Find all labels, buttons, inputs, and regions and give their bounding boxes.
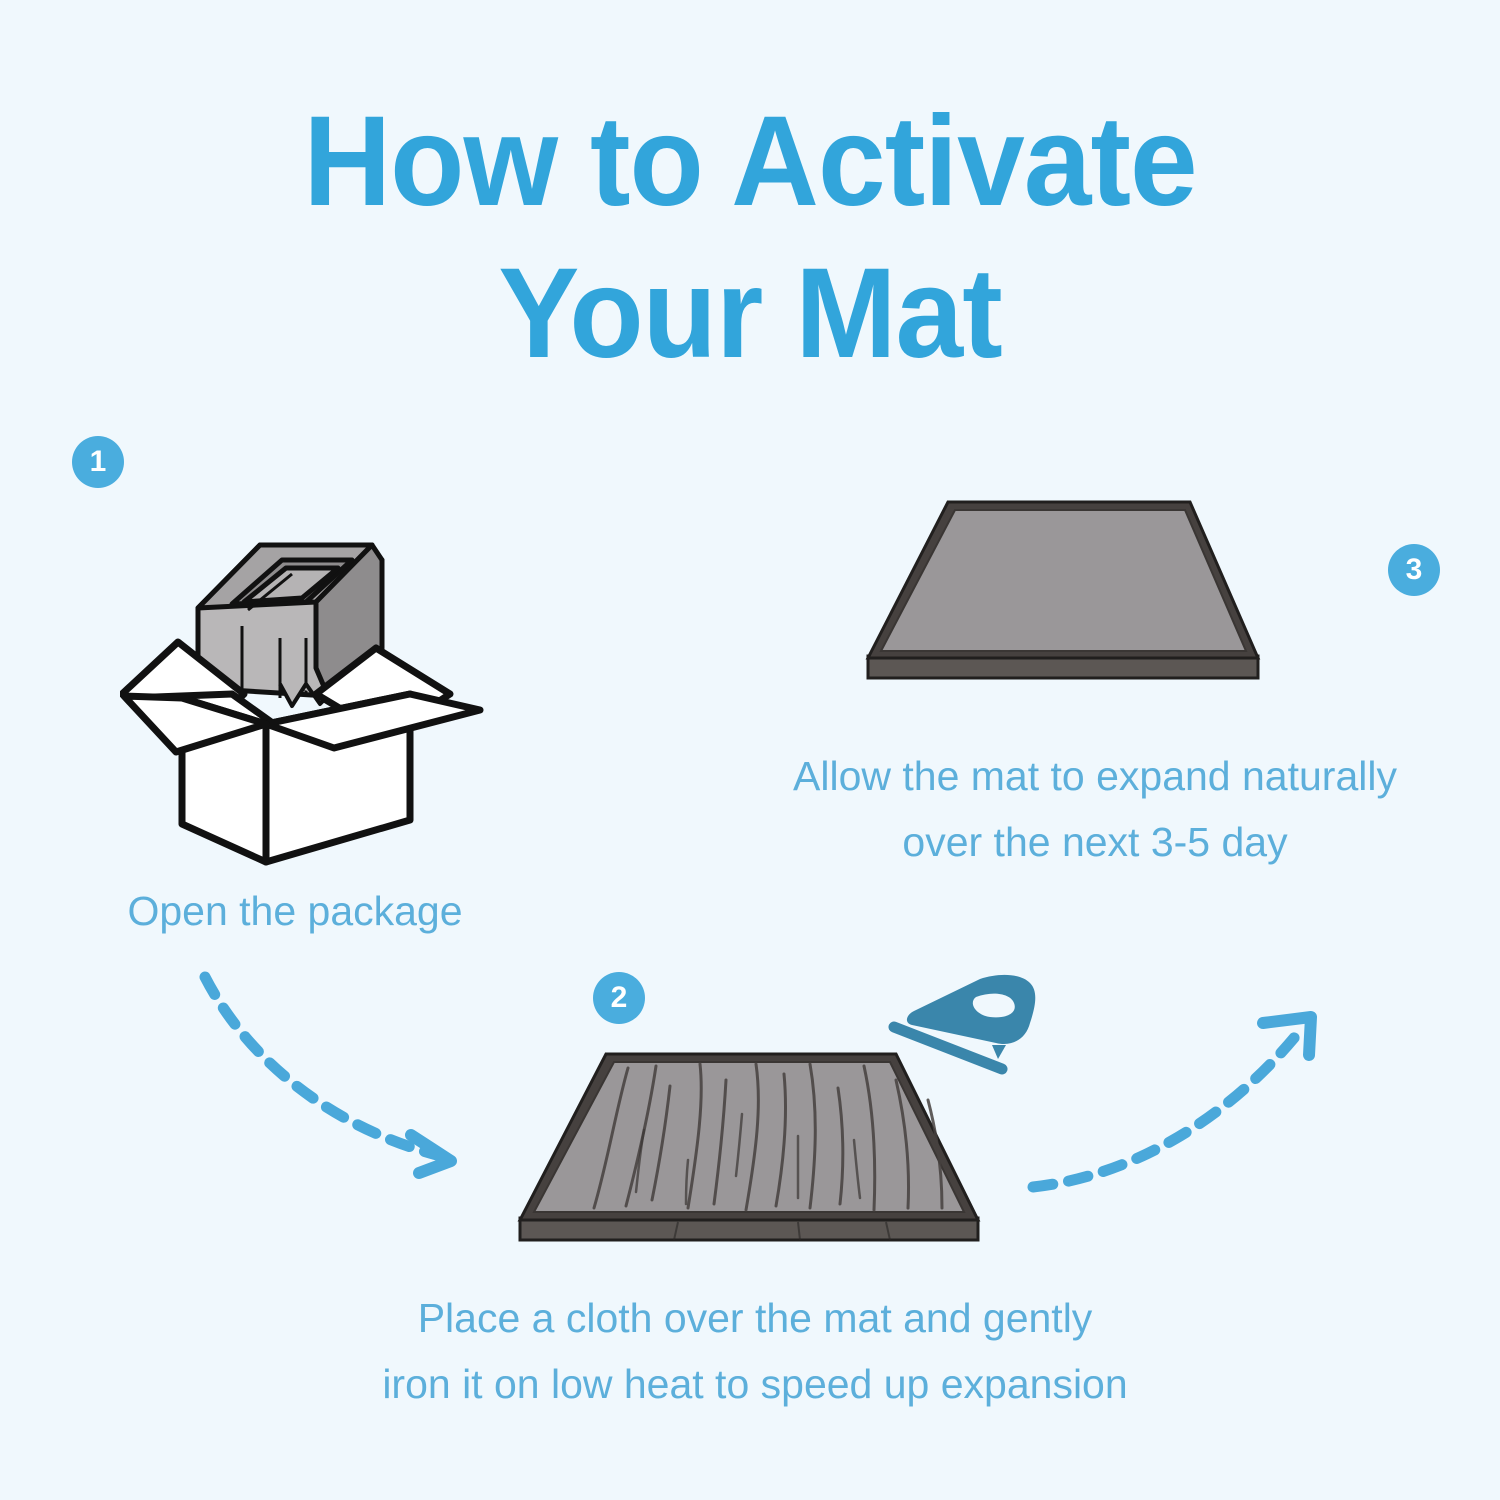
- page-title: How to Activate Your Mat: [38, 86, 1463, 390]
- cloth-covered-mat-icon: [498, 1040, 1018, 1270]
- step-badge-3: 3: [1388, 544, 1440, 596]
- step-caption-3-line-1: Allow the mat to expand naturally: [690, 743, 1500, 809]
- step-caption-3: Allow the mat to expand naturally over t…: [690, 743, 1500, 875]
- step-caption-2-line-2: iron it on low heat to speed up expansio…: [250, 1351, 1260, 1417]
- step-caption-2: Place a cloth over the mat and gently ir…: [250, 1285, 1260, 1417]
- page-title-line-2: Your Mat: [38, 238, 1463, 390]
- step-caption-2-line-1: Place a cloth over the mat and gently: [250, 1285, 1260, 1351]
- open-box-icon: [120, 498, 490, 866]
- step-badge-2: 2: [593, 972, 645, 1024]
- infographic-canvas: How to Activate Your Mat 1: [0, 0, 1500, 1500]
- step-caption-1-line-1: Open the package: [60, 878, 530, 944]
- flat-mat-icon: [860, 488, 1360, 698]
- page-title-line-1: How to Activate: [38, 86, 1463, 238]
- step-badge-1: 1: [72, 436, 124, 488]
- dashed-arrow-down-right-icon: [175, 965, 505, 1200]
- step-caption-1: Open the package: [60, 878, 530, 944]
- dashed-arrow-up-right-icon: [1015, 995, 1345, 1230]
- step-caption-3-line-2: over the next 3-5 day: [690, 809, 1500, 875]
